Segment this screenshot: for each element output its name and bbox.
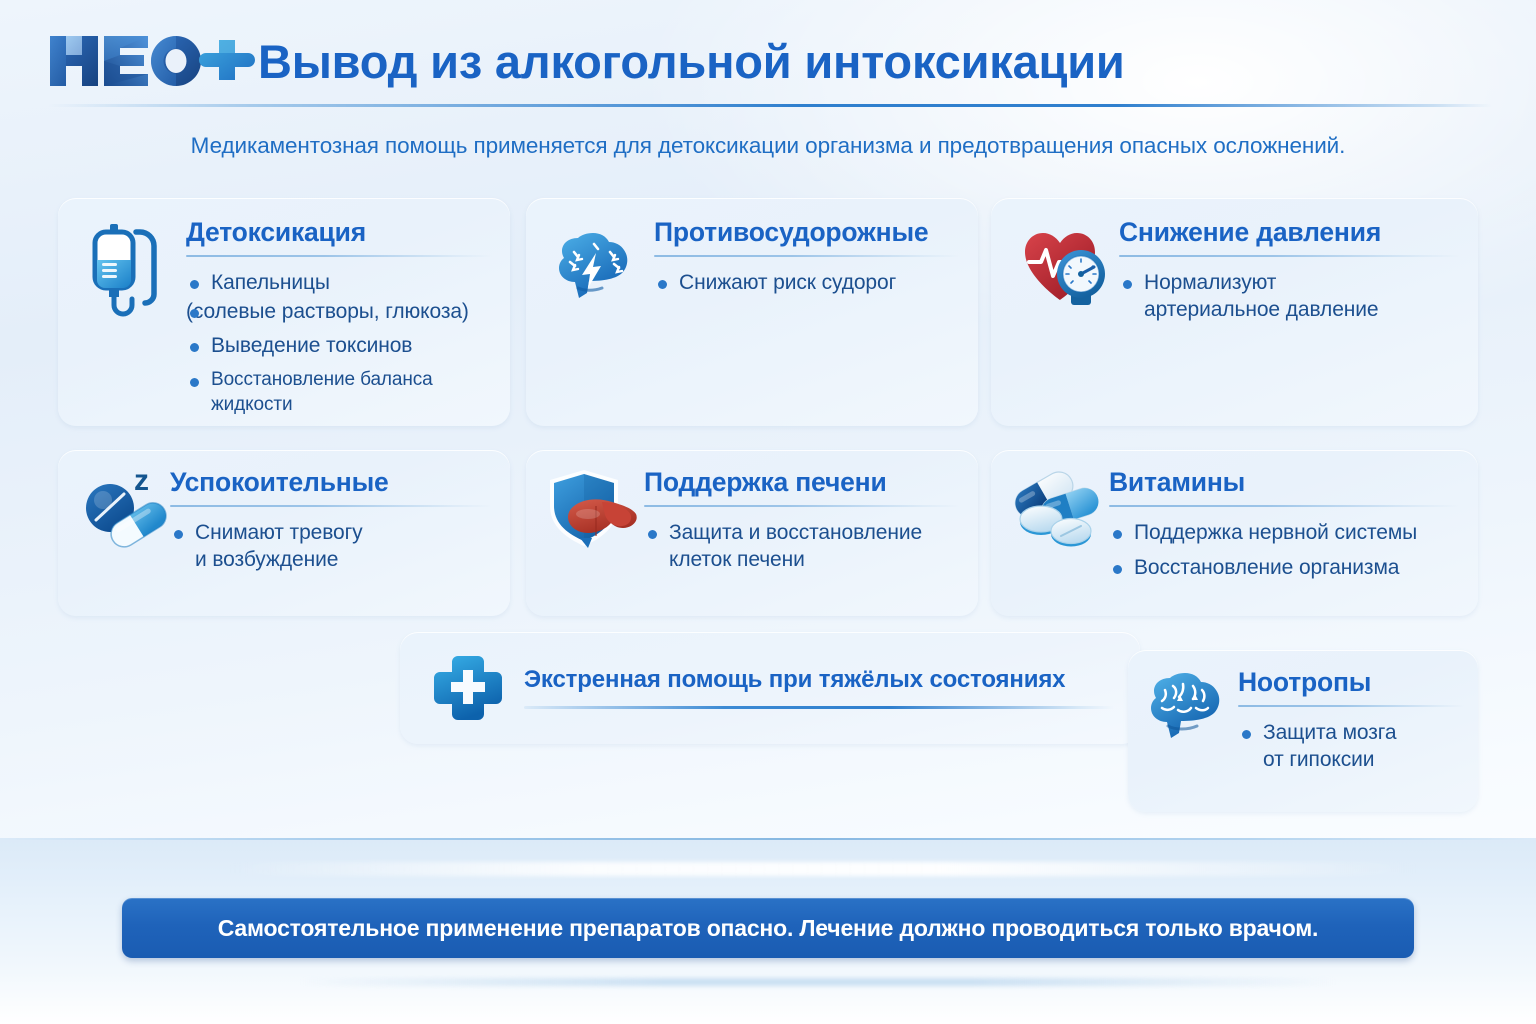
list-item: Поддержка нервной системы bbox=[1109, 520, 1460, 547]
bullet-text-continuation: от гипоксии bbox=[1238, 747, 1464, 774]
title-underline bbox=[654, 255, 960, 257]
list-item: Защита мозга от гипоксии bbox=[1238, 720, 1464, 774]
list-item: Снимают тревогу и возбуждение bbox=[170, 520, 492, 574]
bullet-text: Поддержка нервной системы bbox=[1134, 521, 1417, 544]
card-title: Успокоительные bbox=[170, 468, 492, 498]
card-sedatives[interactable]: z Успокоительные Сним bbox=[58, 450, 510, 616]
bullet-text-continuation: артериальное давление bbox=[1119, 297, 1460, 324]
title-underline bbox=[644, 505, 960, 507]
card-title: Витамины bbox=[1109, 468, 1460, 498]
medical-cross-icon bbox=[432, 654, 504, 724]
infographic-poster: Вывод из алкогольной интоксикации Медика… bbox=[0, 0, 1536, 1024]
card-blood-pressure[interactable]: Снижение давления Нормализуют артериальн… bbox=[991, 198, 1478, 426]
title-underline bbox=[1119, 255, 1460, 257]
bullet-text: Снижают риск судорог bbox=[679, 271, 896, 294]
card-title: Детоксикация bbox=[186, 218, 492, 248]
card-title: Противосудорожные bbox=[654, 218, 960, 248]
title-underline bbox=[186, 255, 492, 257]
list-item: Защита и восстановление клеток печени bbox=[644, 520, 960, 574]
list-item: Восстановление организма bbox=[1109, 555, 1460, 582]
title-underline bbox=[1238, 705, 1464, 707]
card-liver-support[interactable]: Поддержка печени Защита и восстановление… bbox=[526, 450, 978, 616]
card-vitamins[interactable]: Витамины Поддержка нервной системы Восст… bbox=[991, 450, 1478, 616]
list-item: Восстановление баланса жидкости bbox=[186, 368, 492, 417]
liver-shield-icon bbox=[544, 462, 648, 566]
bullet-text: Защита и восстановление bbox=[669, 521, 922, 544]
warning-text: Самостоятельное применение препаратов оп… bbox=[218, 915, 1319, 942]
card-detoxication[interactable]: Детоксикация Капельницы (солевые раствор… bbox=[58, 198, 510, 426]
bullet-text: Восстановление баланса жидкости bbox=[211, 369, 433, 414]
list-item: Снижают риск судорог bbox=[654, 270, 960, 297]
emergency-banner[interactable]: Экстренная помощь при тяжёлых состояниях bbox=[400, 632, 1140, 744]
emergency-underline bbox=[524, 706, 1114, 709]
title-underline bbox=[170, 505, 492, 507]
list-item: Выведение токсинов bbox=[186, 333, 492, 360]
card-nootropics[interactable]: Ноотропы Защита мозга от гипоксии bbox=[1128, 650, 1478, 812]
bullet-list: Капельницы (солевые растворы, глюкоза) В… bbox=[186, 270, 492, 417]
bullet-text: Нормализуют bbox=[1144, 271, 1276, 294]
iv-drip-icon bbox=[80, 216, 184, 320]
bullet-text: Снимают тревогу bbox=[195, 521, 363, 544]
neo-plus-logo bbox=[48, 30, 248, 92]
bullet-text-continuation: и возбуждение bbox=[170, 547, 492, 574]
brain-lightning-icon bbox=[548, 216, 652, 320]
card-title: Снижение давления bbox=[1119, 218, 1460, 248]
list-item-continuation: (солевые растворы, глюкоза) bbox=[186, 299, 492, 326]
sleeping-pill-icon: z bbox=[72, 460, 176, 564]
background-streak-lower bbox=[300, 978, 1336, 986]
header: Вывод из алкогольной интоксикации bbox=[0, 0, 1536, 112]
list-item: Нормализуют артериальное давление bbox=[1119, 270, 1460, 324]
title-underline bbox=[1109, 505, 1460, 507]
heart-pressure-gauge-icon bbox=[1013, 216, 1117, 320]
bullet-list: Снижают риск судорог bbox=[654, 270, 960, 297]
bullet-list: Нормализуют артериальное давление bbox=[1119, 270, 1460, 324]
bullet-list: Защита мозга от гипоксии bbox=[1238, 720, 1464, 774]
bullet-text: Защита мозга bbox=[1263, 721, 1396, 744]
card-title: Поддержка печени bbox=[644, 468, 960, 498]
subtitle: Медикаментозная помощь применяется для д… bbox=[0, 133, 1536, 159]
bullet-text: Восстановление организма bbox=[1134, 556, 1399, 579]
bullet-text: Выведение токсинов bbox=[211, 334, 412, 357]
header-divider bbox=[48, 104, 1492, 107]
bullet-list: Поддержка нервной системы Восстановление… bbox=[1109, 520, 1460, 582]
list-item: Капельницы bbox=[186, 270, 492, 297]
card-title: Ноотропы bbox=[1238, 668, 1464, 698]
bullet-list: Защита и восстановление клеток печени bbox=[644, 520, 960, 574]
emergency-text: Экстренная помощь при тяжёлых состояниях bbox=[524, 666, 1065, 694]
warning-bar: Самостоятельное применение препаратов оп… bbox=[122, 898, 1414, 958]
card-anticonvulsants[interactable]: Противосудорожные Снижают риск судорог bbox=[526, 198, 978, 426]
brain-icon bbox=[1140, 660, 1236, 756]
bullet-text: (солевые растворы, глюкоза) bbox=[186, 299, 492, 326]
bullet-list: Снимают тревогу и возбуждение bbox=[170, 520, 492, 574]
page-title: Вывод из алкогольной интоксикации bbox=[258, 34, 1125, 89]
pills-capsules-icon bbox=[1001, 460, 1105, 564]
svg-text:z: z bbox=[134, 464, 149, 497]
bullet-text-continuation: клеток печени bbox=[644, 547, 960, 574]
bullet-text: Капельницы bbox=[211, 271, 330, 294]
background-streak-upper bbox=[230, 862, 1416, 876]
